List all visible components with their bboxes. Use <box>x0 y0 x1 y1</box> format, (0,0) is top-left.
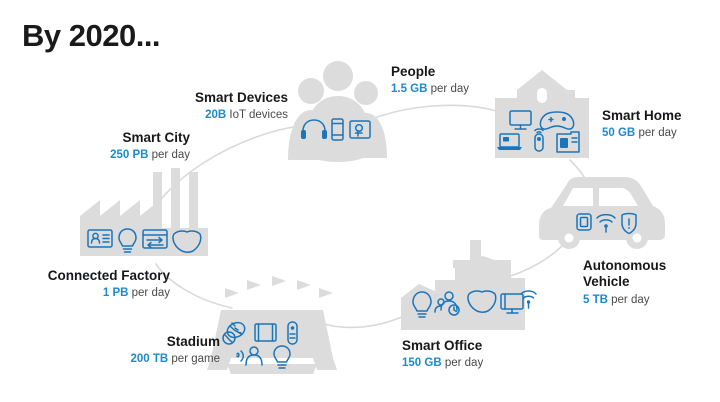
label-stadium: Stadium 200 TB per game <box>100 334 220 366</box>
node-stadium[interactable] <box>205 272 339 380</box>
label-connected-factory: Connected Factory 1 PB per day <box>10 268 170 300</box>
label-smart-city: Smart City 250 PB per day <box>60 130 190 162</box>
label-smart-office: Smart Office 150 GB per day <box>402 338 532 370</box>
node-smart-office[interactable] <box>393 240 533 332</box>
autonomous-vehicle-title: Autonomous Vehicle <box>583 258 711 291</box>
label-autonomous-vehicle: Autonomous Vehicle 5 TB per day <box>583 258 711 307</box>
node-autonomous-vehicle[interactable] <box>533 174 669 252</box>
car-silhouette <box>539 177 665 240</box>
smart-city-metric: 250 PB per day <box>60 148 190 162</box>
smart-office-metric: 150 GB per day <box>402 356 532 370</box>
infographic-canvas: By 2020... <box>0 0 720 402</box>
smart-city-title: Smart City <box>60 130 190 146</box>
connected-factory-title: Connected Factory <box>10 268 170 284</box>
label-people: People 1.5 GB per day <box>391 64 511 96</box>
people-silhouette <box>288 61 387 162</box>
label-smart-home: Smart Home 50 GB per day <box>602 108 720 140</box>
stadium-title: Stadium <box>100 334 220 350</box>
smart-home-metric: 50 GB per day <box>602 126 720 140</box>
autonomous-vehicle-metric: 5 TB per day <box>583 293 711 307</box>
node-people[interactable] <box>283 58 393 163</box>
people-title: People <box>391 64 511 80</box>
node-connected-factory[interactable] <box>78 168 212 264</box>
people-metric: 1.5 GB per day <box>391 82 511 96</box>
connected-factory-metric: 1 PB per day <box>10 286 170 300</box>
stadium-metric: 200 TB per game <box>100 352 220 366</box>
smart-home-title: Smart Home <box>602 108 720 124</box>
smart-office-title: Smart Office <box>402 338 532 354</box>
smart-devices-title: Smart Devices <box>160 90 288 106</box>
smart-devices-metric: 20B IoT devices <box>160 108 288 122</box>
label-smart-devices: Smart Devices 20B IoT devices <box>160 90 288 122</box>
